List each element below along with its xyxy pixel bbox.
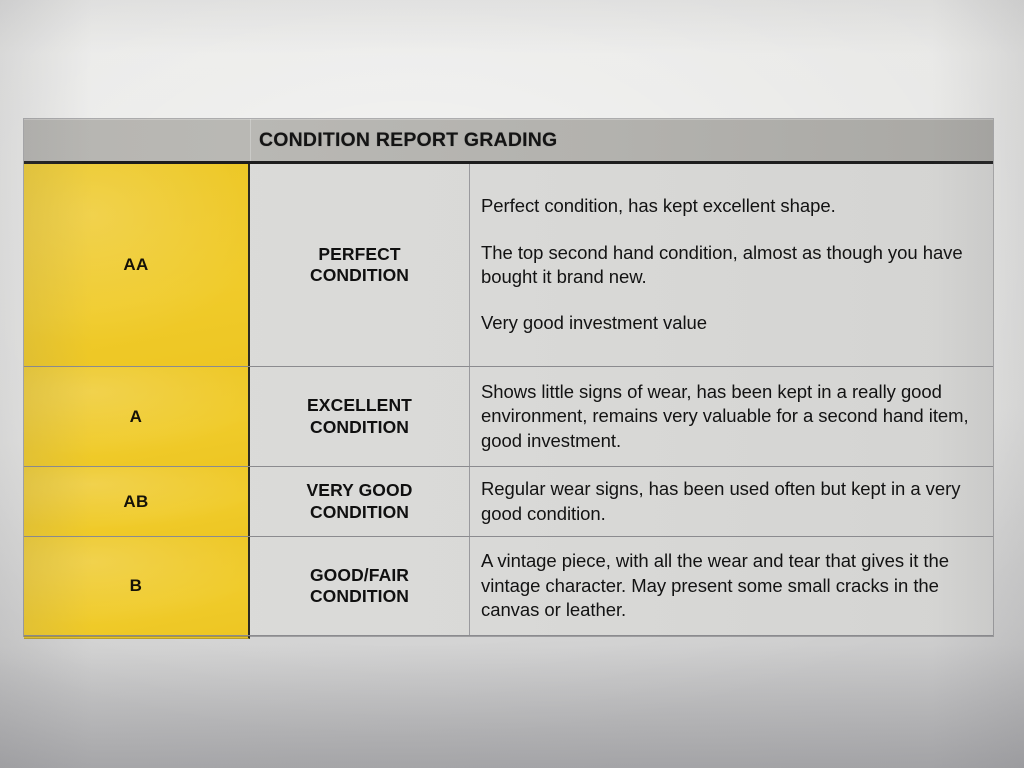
grade-cell-ab: AB [24,467,250,536]
description-cell-ab: Regular wear signs, has been used often … [470,467,993,536]
condition-cell-b: GOOD/FAIR CONDITION [250,537,470,635]
condition-label-line1: VERY GOOD [307,480,413,500]
description-cell-b: A vintage piece, with all the wear and t… [470,537,993,635]
condition-label-line1: GOOD/FAIR [310,565,409,585]
table-body: AA PERFECT CONDITION Perfect condition, … [24,164,993,636]
grade-label: AB [123,492,148,512]
condition-cell-aa: PERFECT CONDITION [250,164,470,366]
description-paragraph: Shows little signs of wear, has been kep… [481,380,977,453]
condition-label-line1: EXCELLENT [307,395,412,415]
condition-label-line2: CONDITION [310,586,409,606]
table-row: A EXCELLENT CONDITION Shows little signs… [24,367,993,467]
condition-label: GOOD/FAIR CONDITION [310,565,409,608]
description-paragraph: Regular wear signs, has been used often … [481,477,977,526]
description-cell-aa: Perfect condition, has kept excellent sh… [470,164,993,366]
grade-cell-a: A [24,367,250,466]
condition-label-line2: CONDITION [310,265,409,285]
condition-label: VERY GOOD CONDITION [307,480,413,523]
description-paragraph: The top second hand condition, almost as… [481,241,977,290]
table-header-spacer [24,119,251,161]
description-paragraph: Very good investment value [481,311,977,335]
condition-report-grading-table: CONDITION REPORT GRADING AA PERFECT COND… [24,119,993,636]
condition-cell-a: EXCELLENT CONDITION [250,367,470,466]
description-cell-a: Shows little signs of wear, has been kep… [470,367,993,466]
condition-label: PERFECT CONDITION [310,244,409,287]
grade-cell-aa: AA [24,164,250,366]
table-title: CONDITION REPORT GRADING [251,129,993,152]
description-paragraph: Perfect condition, has kept excellent sh… [481,194,977,218]
table-row: B GOOD/FAIR CONDITION A vintage piece, w… [24,537,993,636]
table-row: AA PERFECT CONDITION Perfect condition, … [24,164,993,367]
grade-cell-b: B [24,537,250,635]
grade-label: AA [123,255,148,275]
grade-column-bottom-edge [24,636,250,639]
grade-label: A [130,407,143,427]
description-paragraph: A vintage piece, with all the wear and t… [481,549,977,622]
table-header-row: CONDITION REPORT GRADING [24,119,993,164]
grade-label: B [130,576,143,596]
table-row: AB VERY GOOD CONDITION Regular wear sign… [24,467,993,537]
condition-label-line2: CONDITION [310,417,409,437]
condition-label: EXCELLENT CONDITION [307,395,412,438]
condition-label-line2: CONDITION [310,502,409,522]
condition-label-line1: PERFECT [318,244,400,264]
condition-cell-ab: VERY GOOD CONDITION [250,467,470,536]
